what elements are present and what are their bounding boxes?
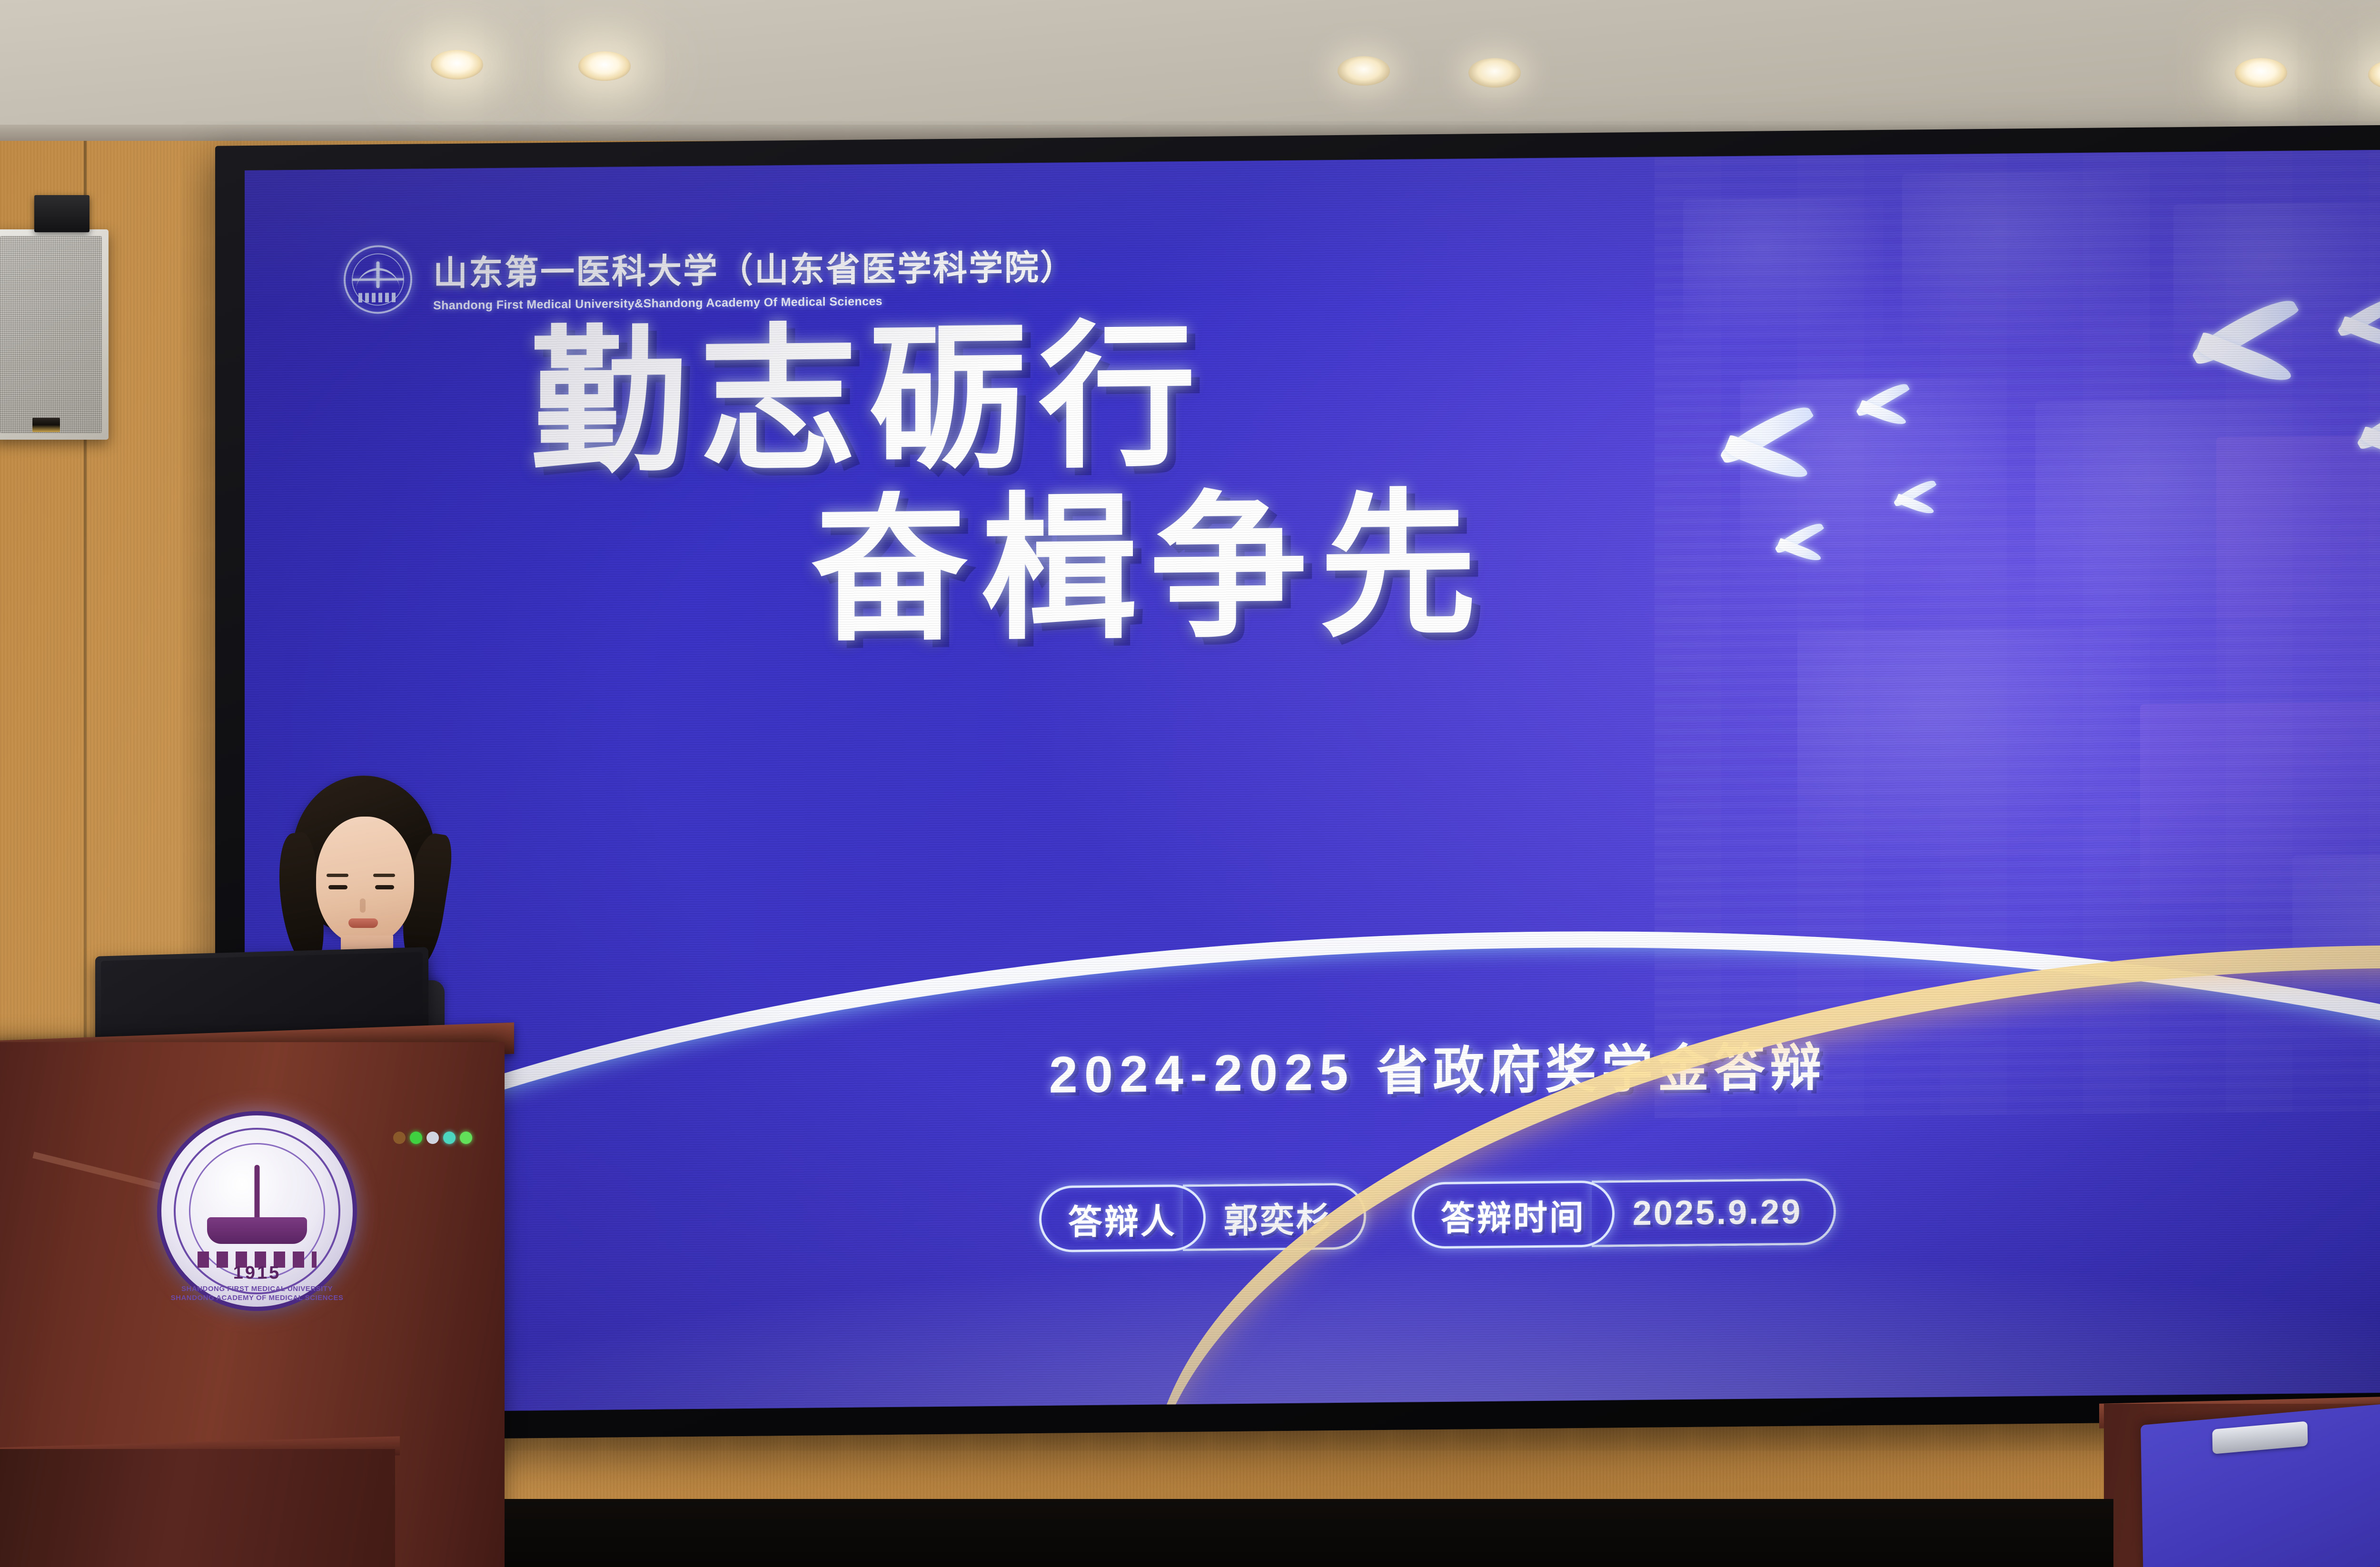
ceiling-downlight: [1338, 56, 1390, 86]
dove-icon: [1773, 531, 1825, 570]
ceiling-downlight: [578, 51, 631, 81]
dove-icon: [1716, 422, 1815, 494]
presenter-brow: [373, 874, 395, 877]
speaker-grille: [0, 236, 102, 433]
emblem-en-line2: SHANDONG ACADEMY OF MEDICAL SCIENCES: [161, 1294, 353, 1303]
university-crest-icon: [344, 245, 412, 314]
dove-icon: [2334, 306, 2380, 358]
crest-steps: [358, 293, 397, 303]
ceiling-downlight: [1468, 58, 1521, 88]
podium-led-indicators: [393, 1132, 472, 1144]
presenter-brow: [327, 874, 348, 877]
ceiling-downlight: [2235, 58, 2287, 88]
screen-header: 山东第一医科大学（山东省医学科学院） Shandong First Medica…: [344, 238, 1076, 314]
presentation-room-scene: 山东第一医科大学（山东省医学科学院） Shandong First Medica…: [0, 0, 2380, 1567]
speaker-brand-badge: [32, 418, 60, 432]
projection-screen: 山东第一医科大学（山东省医学科学院） Shandong First Medica…: [245, 148, 2380, 1413]
ceiling-downlight: [431, 50, 483, 79]
emblem-book-icon: [207, 1217, 307, 1244]
emblem-en-line1: SHANDONG FIRST MEDICAL UNIVERSITY: [161, 1285, 353, 1294]
speaker-bracket-icon: [34, 195, 89, 232]
clipboard-clip-icon: [2212, 1421, 2308, 1454]
dove-icon: [1892, 487, 1937, 521]
floor-shadow-strip: [505, 1499, 2113, 1567]
front-desk: [0, 1449, 395, 1567]
date-label: 答辩时间: [1412, 1180, 1615, 1249]
swoosh-glow: [245, 1095, 2380, 1413]
emblem-year: 1915: [161, 1263, 353, 1283]
presenter-nose: [360, 898, 366, 913]
headline-line-2: 奋楫争先: [811, 487, 1489, 650]
podium-led: [393, 1132, 406, 1144]
wall-speaker-left: [0, 229, 109, 440]
projection-screen-bezel: 山东第一医科大学（山东省医学科学院） Shandong First Medica…: [215, 122, 2380, 1441]
podium-led: [426, 1132, 439, 1144]
headline-line-1: 勤志砺行: [530, 318, 1208, 482]
university-name-en: Shandong First Medical University&Shando…: [433, 293, 1076, 313]
presenter-label: 答辩人: [1039, 1184, 1206, 1252]
university-name-cn: 山东第一医科大学（山东省医学科学院）: [433, 239, 1076, 295]
podium-led: [410, 1132, 422, 1144]
podium-emblem: 1915 SHANDONG FIRST MEDICAL UNIVERSITY S…: [157, 1111, 357, 1311]
dove-icon: [2187, 317, 2301, 399]
podium-led: [443, 1132, 456, 1144]
dove-icon: [2353, 416, 2380, 474]
presenter-eye: [328, 885, 347, 889]
presenter-eye: [375, 885, 394, 889]
ceiling: [0, 0, 2380, 143]
podium-led: [460, 1132, 472, 1144]
emblem-english-name: SHANDONG FIRST MEDICAL UNIVERSITY SHANDO…: [161, 1285, 353, 1303]
presenter-mouth: [348, 918, 378, 928]
dove-icon: [1854, 392, 1911, 434]
